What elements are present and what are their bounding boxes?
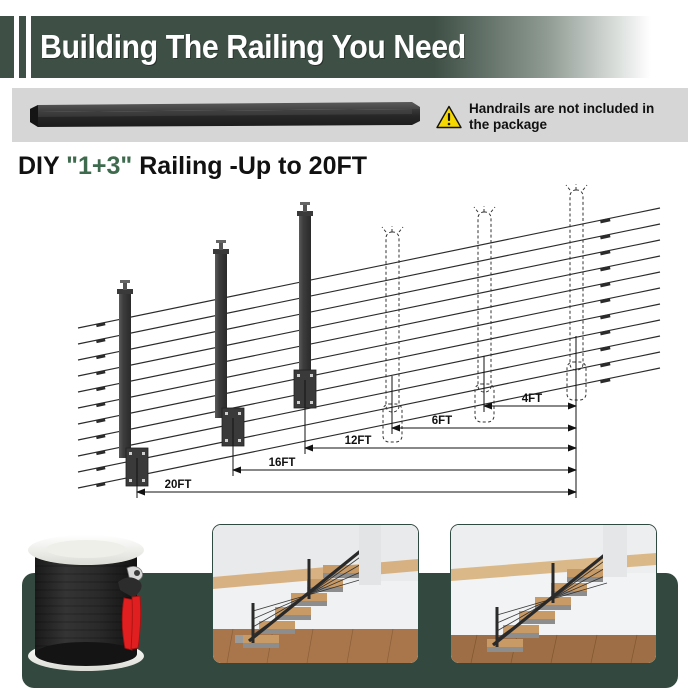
title-accent-bar-outer bbox=[14, 16, 19, 78]
dimension-label-20ft: 20FT bbox=[165, 479, 192, 491]
dimension-label-12ft: 12FT bbox=[345, 435, 372, 447]
dimension-label-6ft: 6FT bbox=[432, 415, 452, 427]
warning-notice: Handrails are not included in the packag… bbox=[436, 97, 686, 137]
warning-triangle-icon bbox=[436, 105, 462, 129]
warning-text: Handrails are not included in the packag… bbox=[469, 101, 654, 132]
warning-text-line1: Handrails are not included in bbox=[469, 101, 654, 117]
dimension-label-4ft: 4FT bbox=[522, 393, 542, 405]
infographic-page: Building The Railing You Need bbox=[0, 0, 700, 700]
dimension-label-16ft: 16FT bbox=[269, 457, 296, 469]
warning-text-line2: the package bbox=[469, 117, 654, 133]
cable-spool-with-cutter bbox=[14, 526, 189, 686]
page-title: Building The Railing You Need bbox=[40, 21, 555, 75]
handrail-notice-strip: Handrails are not included in the packag… bbox=[12, 88, 688, 142]
bottom-section bbox=[0, 518, 700, 700]
title-accent-bar-inner bbox=[26, 16, 31, 78]
photo-stair-railing-left bbox=[212, 524, 419, 664]
cable-railing-span-diagram: 20FT 16FT 12FT 6FT 4FT bbox=[0, 176, 700, 516]
photo-stair-railing-right bbox=[450, 524, 657, 664]
handrail-bar-image bbox=[30, 102, 420, 128]
